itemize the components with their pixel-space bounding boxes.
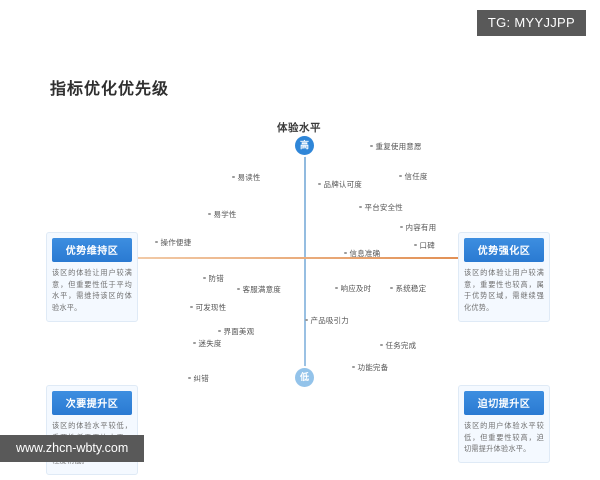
- scatter-dot-icon: [344, 252, 347, 255]
- scatter-point-label: 迷失度: [199, 339, 222, 348]
- quadrant-description: 该区的体验让用户较满意，但重要性低于平均水平，需维持该区的体验水平。: [52, 267, 132, 314]
- scatter-dot-icon: [188, 377, 191, 380]
- quadrant-title: 次要提升区: [52, 391, 132, 415]
- scatter-dot-icon: [380, 344, 383, 347]
- scatter-dot-icon: [305, 319, 308, 322]
- scatter-dot-icon: [155, 241, 158, 244]
- quadrant-card-top-right: 优势强化区 该区的体验让用户较满意，重要性也较高，属于优势区域，需继续强化优势。: [458, 232, 550, 322]
- scatter-point-label: 信任度: [405, 172, 428, 181]
- scatter-dot-icon: [237, 288, 240, 291]
- scatter-point: 平台安全性: [359, 202, 403, 213]
- horizontal-axis-line: [110, 257, 492, 259]
- quadrant-card-top-left: 优势维持区 该区的体验让用户较满意，但重要性低于平均水平，需维持该区的体验水平。: [46, 232, 138, 322]
- scatter-point: 重复使用意愿: [370, 141, 422, 152]
- scatter-point-label: 可发现性: [196, 303, 227, 312]
- scatter-point-label: 重复使用意愿: [376, 142, 422, 151]
- scatter-point-label: 易读性: [238, 173, 261, 182]
- scatter-point: 易读性: [232, 172, 261, 183]
- scatter-point-label: 客服满意度: [243, 285, 282, 294]
- scatter-point: 信息准确: [344, 248, 380, 259]
- scatter-point-label: 功能完备: [358, 363, 389, 372]
- scatter-point-label: 平台安全性: [365, 203, 404, 212]
- scatter-point-label: 响应及时: [341, 284, 372, 293]
- quadrant-title: 优势强化区: [464, 238, 544, 262]
- y-axis-label: 体验水平: [277, 120, 321, 135]
- scatter-point-label: 任务完成: [386, 341, 417, 350]
- scatter-point: 迷失度: [193, 338, 222, 349]
- scatter-point: 功能完备: [352, 362, 388, 373]
- scatter-point-label: 易学性: [214, 210, 237, 219]
- scatter-dot-icon: [193, 342, 196, 345]
- scatter-point-label: 界面美观: [224, 327, 255, 336]
- scatter-point: 易学性: [208, 209, 237, 220]
- scatter-point: 可发现性: [190, 302, 226, 313]
- scatter-point-label: 口碑: [420, 241, 435, 250]
- quadrant-title: 优势维持区: [52, 238, 132, 262]
- scatter-dot-icon: [390, 287, 393, 290]
- scatter-point-label: 操作便捷: [161, 238, 192, 247]
- scatter-point: 系统稳定: [390, 283, 426, 294]
- scatter-point: 防错: [203, 273, 224, 284]
- scatter-point-label: 系统稳定: [396, 284, 427, 293]
- scatter-point-label: 品牌认可度: [324, 180, 363, 189]
- scatter-dot-icon: [400, 226, 403, 229]
- scatter-dot-icon: [399, 175, 402, 178]
- scatter-point: 客服满意度: [237, 284, 281, 295]
- scatter-point: 口碑: [414, 240, 435, 251]
- scatter-point-label: 产品吸引力: [311, 316, 350, 325]
- scatter-dot-icon: [208, 213, 211, 216]
- scatter-point: 内容有用: [400, 222, 436, 233]
- scatter-point: 响应及时: [335, 283, 371, 294]
- tg-badge: TG: MYYJJPP: [477, 10, 586, 36]
- scatter-dot-icon: [318, 183, 321, 186]
- scatter-dot-icon: [370, 145, 373, 148]
- scatter-point: 任务完成: [380, 340, 416, 351]
- scatter-point-label: 内容有用: [406, 223, 437, 232]
- scatter-point: 品牌认可度: [318, 179, 362, 190]
- scatter-point-label: 纠错: [194, 374, 209, 383]
- scatter-dot-icon: [335, 287, 338, 290]
- scatter-point: 纠错: [188, 373, 209, 384]
- priority-quadrant-chart: 体验水平 重要性 高 低 高 低 优势维持区 该区的体验让用户较满意，但重要性低…: [0, 100, 600, 410]
- y-axis-low-marker: 低: [295, 368, 314, 387]
- scatter-point-label: 防错: [209, 274, 224, 283]
- quadrant-description: 该区的用户体验水平较低，但重要性较高，迫切需提升体验水平。: [464, 420, 544, 455]
- site-watermark: www.zhcn-wbty.com: [0, 435, 144, 462]
- scatter-dot-icon: [218, 330, 221, 333]
- scatter-point-label: 信息准确: [350, 249, 381, 258]
- scatter-dot-icon: [414, 244, 417, 247]
- quadrant-description: 该区的体验让用户较满意，重要性也较高，属于优势区域，需继续强化优势。: [464, 267, 544, 314]
- quadrant-title: 迫切提升区: [464, 391, 544, 415]
- y-axis-high-marker: 高: [295, 136, 314, 155]
- quadrant-card-bottom-right: 迫切提升区 该区的用户体验水平较低，但重要性较高，迫切需提升体验水平。: [458, 385, 550, 463]
- scatter-point: 界面美观: [218, 326, 254, 337]
- scatter-point: 信任度: [399, 171, 428, 182]
- scatter-dot-icon: [232, 176, 235, 179]
- scatter-dot-icon: [203, 277, 206, 280]
- scatter-dot-icon: [352, 366, 355, 369]
- scatter-point: 产品吸引力: [305, 315, 349, 326]
- page-title: 指标优化优先级: [50, 75, 169, 99]
- scatter-dot-icon: [190, 306, 193, 309]
- scatter-point: 操作便捷: [155, 237, 191, 248]
- scatter-dot-icon: [359, 206, 362, 209]
